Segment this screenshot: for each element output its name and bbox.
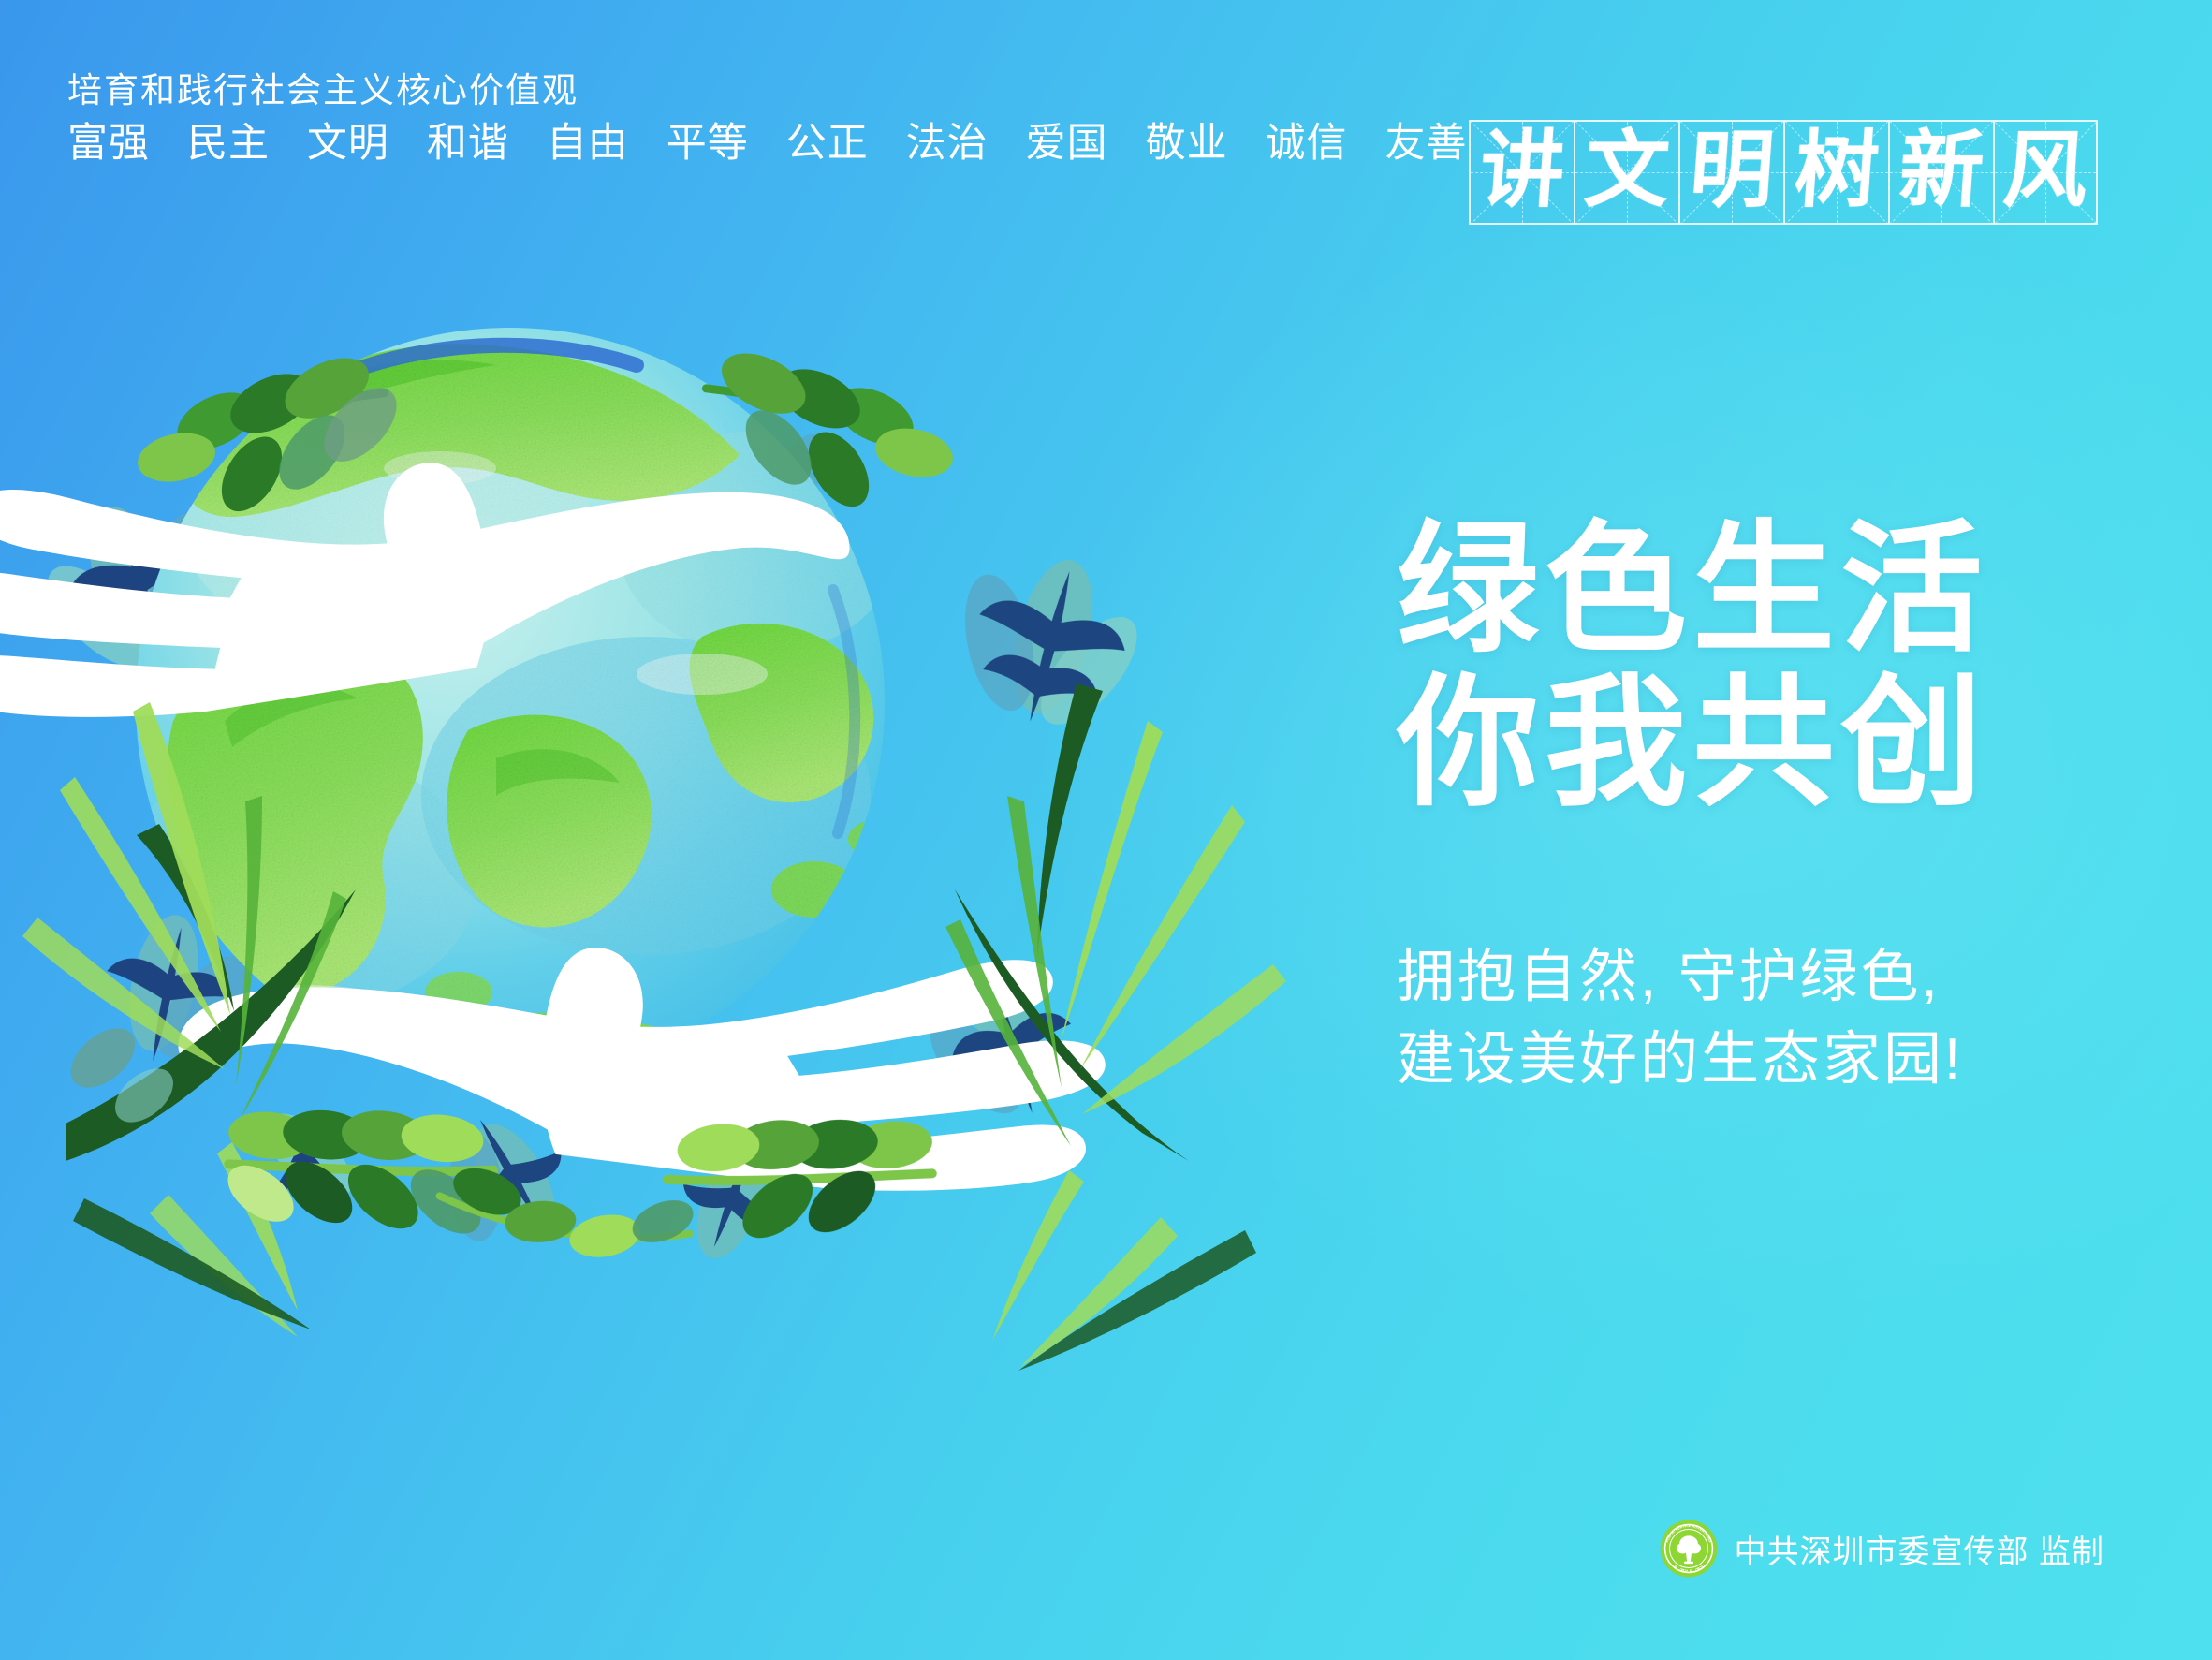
slogan-cell: 新 (1888, 120, 1993, 225)
campaign-line: 培育和践行社会主义核心价值观 (67, 73, 1467, 108)
slogan-cell: 树 (1783, 120, 1888, 225)
slogan-char: 讲 (1477, 130, 1567, 214)
headline-line-1: 绿色生活 (1397, 513, 1988, 667)
core-value-item: 友善 (1384, 121, 1467, 166)
core-value-item: 诚信 (1266, 121, 1348, 166)
core-value-item: 法治 (906, 121, 989, 166)
subtitle-line-1: 拥抱自然, 守护绿色, (1397, 936, 1963, 1019)
core-value-item: 敬业 (1146, 121, 1228, 166)
footer-credit-text: 中共深圳市委宣传部 监制 (1735, 1526, 2104, 1572)
page-title: 绿色生活 你我共创 (1397, 513, 1988, 820)
subtitle-line-2: 建设美好的生态家园! (1397, 1019, 1963, 1101)
core-value-item: 民主 (187, 121, 270, 166)
public-service-advertising-logo: PUBLIC SERVICE ADVERTISING 公益广告 公益广告 (1660, 1520, 1718, 1578)
slogan-char: 明 (1687, 130, 1777, 214)
core-value-item: 和谐 (427, 121, 509, 166)
slogan-cell: 风 (1993, 120, 2098, 225)
core-value-item: 平等 (667, 121, 749, 166)
slogan-cell: 讲 (1469, 120, 1574, 225)
poster-canvas: 培育和践行社会主义核心价值观 富强 民主 文明 和谐 自由 平等 公正 法治 爱… (0, 0, 2212, 1660)
slogan-cell: 文 (1574, 120, 1678, 225)
core-values-list: 富强 民主 文明 和谐 自由 平等 公正 法治 爱国 敬业 诚信 友善 (67, 124, 1467, 164)
header-campaign-block: 培育和践行社会主义核心价值观 富强 民主 文明 和谐 自由 平等 公正 法治 爱… (67, 73, 1467, 164)
headline-line-2: 你我共创 (1397, 667, 1988, 820)
core-value-item: 自由 (547, 121, 629, 166)
earth-illustration (0, 234, 1320, 1292)
slogan-cell: 明 (1678, 120, 1783, 225)
slogan-char: 文 (1582, 130, 1672, 214)
slogan-char: 树 (1792, 130, 1882, 214)
slogan-char: 风 (2000, 130, 2090, 214)
core-value-item: 爱国 (1026, 121, 1108, 166)
slogan-char: 新 (1897, 130, 1986, 214)
core-value-item: 富强 (67, 121, 150, 166)
core-value-item: 文明 (307, 121, 389, 166)
page-subtitle: 拥抱自然, 守护绿色, 建设美好的生态家园! (1397, 936, 1963, 1101)
slogan-grid: 讲 文 明 树 新 风 (1469, 120, 2098, 225)
core-value-item: 公正 (786, 121, 869, 166)
footer-credit-block: PUBLIC SERVICE ADVERTISING 公益广告 公益广告 中共深… (1660, 1520, 2104, 1578)
